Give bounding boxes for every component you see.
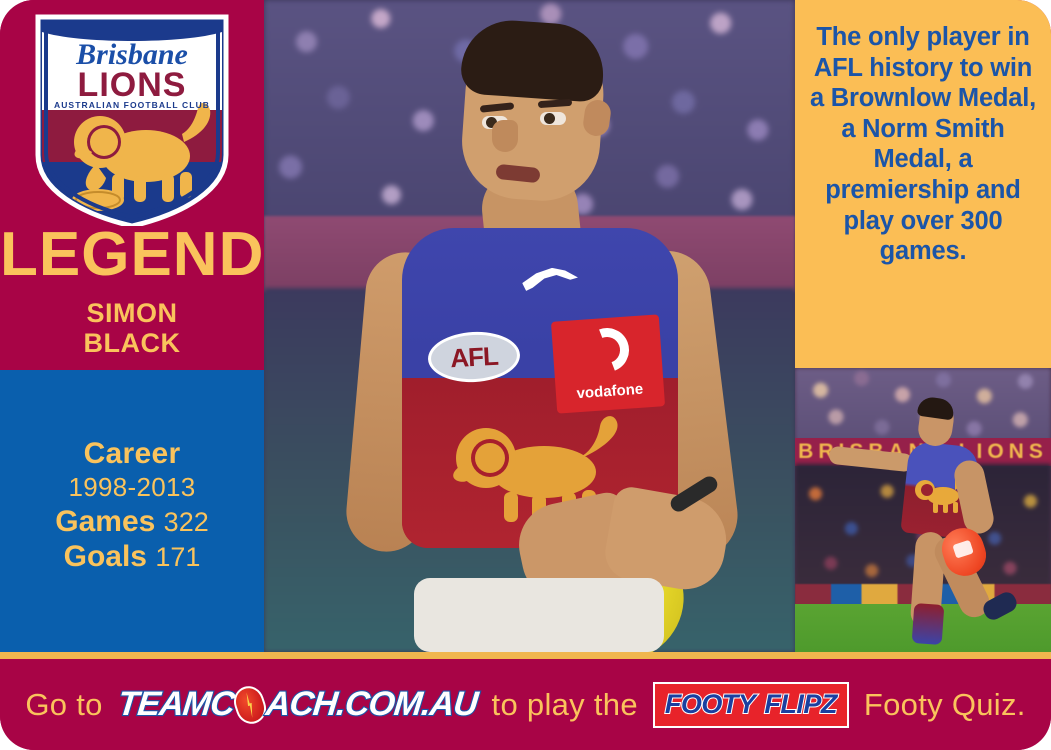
secondary-player-sock (912, 603, 945, 645)
teamcoach-website-logo[interactable]: TEAMC ACH.COM.AU (118, 683, 477, 727)
left-info-column: Brisbane LIONS AUSTRALIAN FOOTBALL CLUB … (0, 0, 264, 652)
goals-stat: Goals 171 (0, 539, 264, 574)
player-name: SIMON BLACK (0, 298, 264, 358)
games-stat: Games 322 (0, 504, 264, 539)
club-main-name: LIONS (78, 66, 187, 104)
main-player-photo: LIONS (264, 0, 795, 652)
career-label: Career (0, 437, 264, 472)
player-pupil-right (544, 113, 555, 124)
career-stats: Career 1998-2013 Games 322 Goals 171 (0, 437, 264, 574)
club-subtitle: AUSTRALIAN FOOTBALL CLUB (54, 100, 210, 110)
player-first-name: SIMON (0, 298, 264, 328)
games-label: Games (55, 505, 155, 538)
gold-divider (0, 652, 1051, 659)
secondary-action-photo: BRISBANE LIONS (795, 368, 1051, 652)
footer-text-before: Go to (25, 687, 102, 723)
lightning-bolt-icon (242, 691, 257, 718)
promo-footer-banner: Go to TEAMC ACH.COM.AU to play the FOOTY… (0, 659, 1051, 750)
secondary-football-patch (952, 540, 973, 559)
player-trading-card: Brisbane LIONS AUSTRALIAN FOOTBALL CLUB … (0, 0, 1051, 750)
footy-flipz-word1: FOOTY (665, 689, 756, 720)
teamcoach-text-part1: TEAMC (116, 685, 236, 724)
vodafone-sponsor-text: vodafone (555, 379, 664, 403)
goals-value: 171 (155, 542, 200, 572)
vodafone-mark-icon (578, 321, 636, 379)
teamcoach-text-part2: ACH.COM.AU (263, 685, 478, 724)
footy-flipz-word2: FLIPZ (764, 689, 837, 720)
fact-text: The only player in AFL history to win a … (809, 22, 1037, 267)
goals-label: Goals (64, 540, 147, 573)
player-shorts (414, 578, 664, 652)
career-years: 1998-2013 (0, 472, 264, 504)
lions-shield-icon: Brisbane LIONS AUSTRALIAN FOOTBALL CLUB (34, 14, 230, 226)
vodafone-sponsor-badge: vodafone (551, 314, 665, 413)
footy-flipz-logo[interactable]: FOOTY FLIPZ (653, 682, 849, 728)
legend-badge-label: LEGEND (0, 224, 264, 286)
player-last-name: BLACK (0, 328, 264, 358)
player-nose (492, 120, 518, 152)
footer-text-after: Footy Quiz. (864, 687, 1026, 723)
fact-panel: The only player in AFL history to win a … (795, 0, 1051, 368)
games-value: 322 (164, 507, 209, 537)
footer-text-middle: to play the (492, 687, 638, 723)
